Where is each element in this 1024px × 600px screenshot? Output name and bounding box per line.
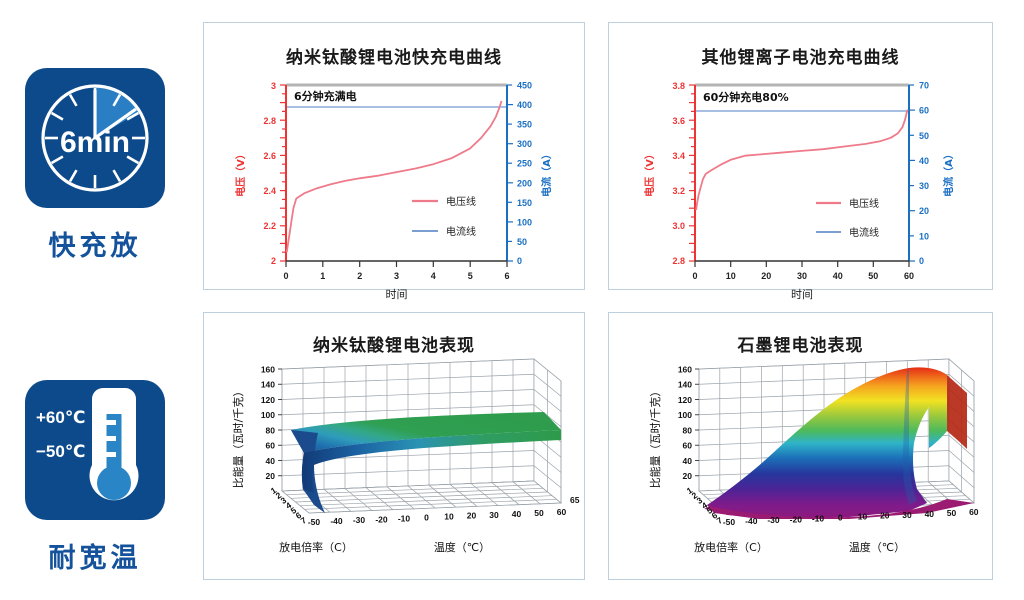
right-tick: 50 bbox=[517, 237, 527, 247]
legend-label-current: 电流线 bbox=[849, 226, 879, 239]
legend-label-voltage: 电压线 bbox=[446, 195, 476, 208]
z-tick: 160 bbox=[678, 364, 692, 374]
z-tick: 80 bbox=[683, 425, 693, 435]
right-tick: 50 bbox=[919, 131, 929, 141]
left-tick: 3.0 bbox=[672, 221, 685, 231]
corner-label-65: 65 bbox=[570, 495, 580, 505]
card-graphite-performance: 石墨锂电池表现 bbox=[608, 312, 993, 580]
x-tick: 50 bbox=[868, 271, 878, 281]
right-tick: 400 bbox=[517, 100, 532, 110]
x-tick: -20 bbox=[375, 514, 388, 524]
left-tick: 2.6 bbox=[263, 151, 276, 161]
x-tick: 10 bbox=[444, 512, 454, 522]
clock-icon-label: 6min bbox=[60, 126, 130, 159]
z-tick: 20 bbox=[266, 471, 276, 481]
annotation-60min: 60分钟充电80% bbox=[703, 90, 789, 104]
chart-lto-performance: 20 40 60 80 100 120 140 160 -50 -40 -30 … bbox=[204, 313, 586, 581]
y-axis-right-label: 电流（A） bbox=[942, 149, 955, 197]
right-tick: 10 bbox=[919, 231, 929, 241]
z-axis-label: 比能量（瓦时/千克） bbox=[648, 386, 662, 489]
x-tick: -20 bbox=[790, 514, 803, 524]
feature-wide-temperature: +60℃ −50℃ 耐宽温 bbox=[0, 380, 190, 575]
x-axis-label: 时间 bbox=[791, 288, 813, 301]
right-tick: 250 bbox=[517, 159, 532, 169]
left-tick: 2.8 bbox=[263, 116, 276, 126]
x-tick: -50 bbox=[308, 517, 321, 527]
x-tick: 4 bbox=[431, 271, 436, 281]
left-tick: 2.4 bbox=[263, 186, 276, 196]
x-tick: 30 bbox=[797, 271, 807, 281]
x-axis-label: 时间 bbox=[386, 288, 408, 301]
y-axis-right-label: 电流（A） bbox=[540, 149, 553, 197]
right-tick: 60 bbox=[919, 106, 929, 116]
chart-graphite-performance: 20 40 60 80 100 120 140 160 -50 -40 -30 … bbox=[609, 313, 994, 581]
x-tick: -10 bbox=[398, 513, 411, 523]
y-axis-label: 放电倍率（C） bbox=[694, 540, 768, 554]
right-tick: 70 bbox=[919, 81, 929, 91]
infographic-root: 6min 快充放 bbox=[0, 0, 1024, 600]
x-tick: 20 bbox=[467, 511, 477, 521]
x-axis-label: 温度（℃） bbox=[849, 540, 905, 554]
x-tick: 0 bbox=[283, 271, 288, 281]
feature-wide-temperature-caption: 耐宽温 bbox=[0, 536, 190, 575]
fast-charge-tile: 6min bbox=[25, 68, 165, 208]
left-tick: 3.8 bbox=[672, 81, 685, 91]
x-tick: 50 bbox=[947, 508, 957, 518]
x-tick: -40 bbox=[745, 516, 758, 526]
right-tick: 20 bbox=[919, 206, 929, 216]
z-tick: 20 bbox=[683, 471, 693, 481]
right-tick: 450 bbox=[517, 81, 532, 91]
x-tick: 60 bbox=[904, 271, 914, 281]
z-tick: 40 bbox=[266, 456, 276, 466]
right-tick: 200 bbox=[517, 178, 532, 188]
left-tick: 3 bbox=[271, 81, 276, 91]
left-tick: 3.4 bbox=[672, 151, 685, 161]
x-tick: 5 bbox=[468, 271, 473, 281]
z-tick: 40 bbox=[683, 456, 693, 466]
x-tick: 40 bbox=[512, 509, 522, 519]
legend-label-current: 电流线 bbox=[446, 225, 476, 238]
left-tick: 2.8 bbox=[672, 256, 685, 266]
x-tick: 60 bbox=[557, 507, 567, 517]
y-axis-label: 放电倍率（C） bbox=[279, 540, 353, 554]
z-tick: 60 bbox=[683, 441, 693, 451]
x-tick: 1 bbox=[320, 271, 325, 281]
left-tick: 2.2 bbox=[263, 221, 276, 231]
x-tick: 3 bbox=[394, 271, 399, 281]
card-other-lion-charge: 其他锂离子电池充电曲线 60分钟充电80% bbox=[608, 22, 993, 290]
x-tick: 0 bbox=[838, 513, 843, 523]
card-lto-fast-charge: 纳米钛酸锂电池快充电曲线 6分钟充满电 bbox=[203, 22, 585, 290]
chart-other-lion-charge: 60分钟充电80% 2.8 bbox=[609, 23, 994, 291]
z-tick: 120 bbox=[678, 395, 692, 405]
chart-lto-fast-charge: 6分钟充满电 bbox=[204, 23, 586, 291]
x-tick: 0 bbox=[424, 513, 429, 523]
right-tick: 0 bbox=[517, 256, 522, 266]
left-tick: 2 bbox=[271, 256, 276, 266]
x-tick: 10 bbox=[858, 512, 868, 522]
voltage-curve bbox=[696, 110, 908, 210]
z-tick: 100 bbox=[261, 410, 275, 420]
y-axis-left-label: 电压（V） bbox=[643, 149, 656, 197]
right-tick: 30 bbox=[919, 181, 929, 191]
temperature-low-label: −50℃ bbox=[36, 442, 85, 462]
x-tick: -10 bbox=[812, 513, 825, 523]
left-tick: 3.2 bbox=[672, 186, 685, 196]
z-tick: 60 bbox=[266, 441, 276, 451]
z-axis-label: 比能量（瓦时/千克） bbox=[231, 386, 245, 489]
z-tick: 100 bbox=[678, 410, 692, 420]
clock-icon: 6min bbox=[25, 68, 165, 208]
x-tick: 0 bbox=[692, 271, 697, 281]
x-tick: 2 bbox=[357, 271, 362, 281]
x-axis-label: 温度（℃） bbox=[434, 540, 490, 554]
card-lto-performance: 纳米钛酸锂电池表现 bbox=[203, 312, 585, 580]
z-tick: 120 bbox=[261, 395, 275, 405]
feature-fast-charge: 6min 快充放 bbox=[0, 68, 190, 263]
x-tick: 40 bbox=[925, 509, 935, 519]
x-tick: -30 bbox=[767, 515, 780, 525]
wide-temperature-tile: +60℃ −50℃ bbox=[25, 380, 165, 520]
right-tick: 40 bbox=[919, 156, 929, 166]
y-axis-left-label: 电压（V） bbox=[234, 149, 247, 197]
z-tick: 80 bbox=[266, 425, 276, 435]
x-tick: -50 bbox=[723, 517, 736, 527]
right-tick: 350 bbox=[517, 120, 532, 130]
x-tick: 60 bbox=[969, 507, 979, 517]
legend-label-voltage: 电压线 bbox=[849, 197, 879, 210]
x-tick: 6 bbox=[504, 271, 509, 281]
x-tick: 30 bbox=[489, 510, 499, 520]
left-tick: 3.6 bbox=[672, 116, 685, 126]
z-tick: 160 bbox=[261, 364, 275, 374]
x-tick: 20 bbox=[880, 511, 890, 521]
x-tick: -30 bbox=[353, 515, 366, 525]
x-tick: -40 bbox=[330, 516, 343, 526]
right-tick: 150 bbox=[517, 198, 532, 208]
right-tick: 0 bbox=[919, 256, 924, 266]
x-tick: 40 bbox=[833, 271, 843, 281]
z-tick: 140 bbox=[261, 380, 275, 390]
feature-fast-charge-caption: 快充放 bbox=[0, 224, 190, 263]
right-tick: 300 bbox=[517, 139, 532, 149]
x-tick: 30 bbox=[902, 510, 912, 520]
z-tick: 140 bbox=[678, 380, 692, 390]
annotation-6min: 6分钟充满电 bbox=[294, 89, 357, 103]
temperature-high-label: +60℃ bbox=[36, 408, 85, 428]
x-tick: 20 bbox=[761, 271, 771, 281]
x-tick: 10 bbox=[726, 271, 736, 281]
x-tick: 50 bbox=[534, 508, 544, 518]
right-tick: 100 bbox=[517, 217, 532, 227]
